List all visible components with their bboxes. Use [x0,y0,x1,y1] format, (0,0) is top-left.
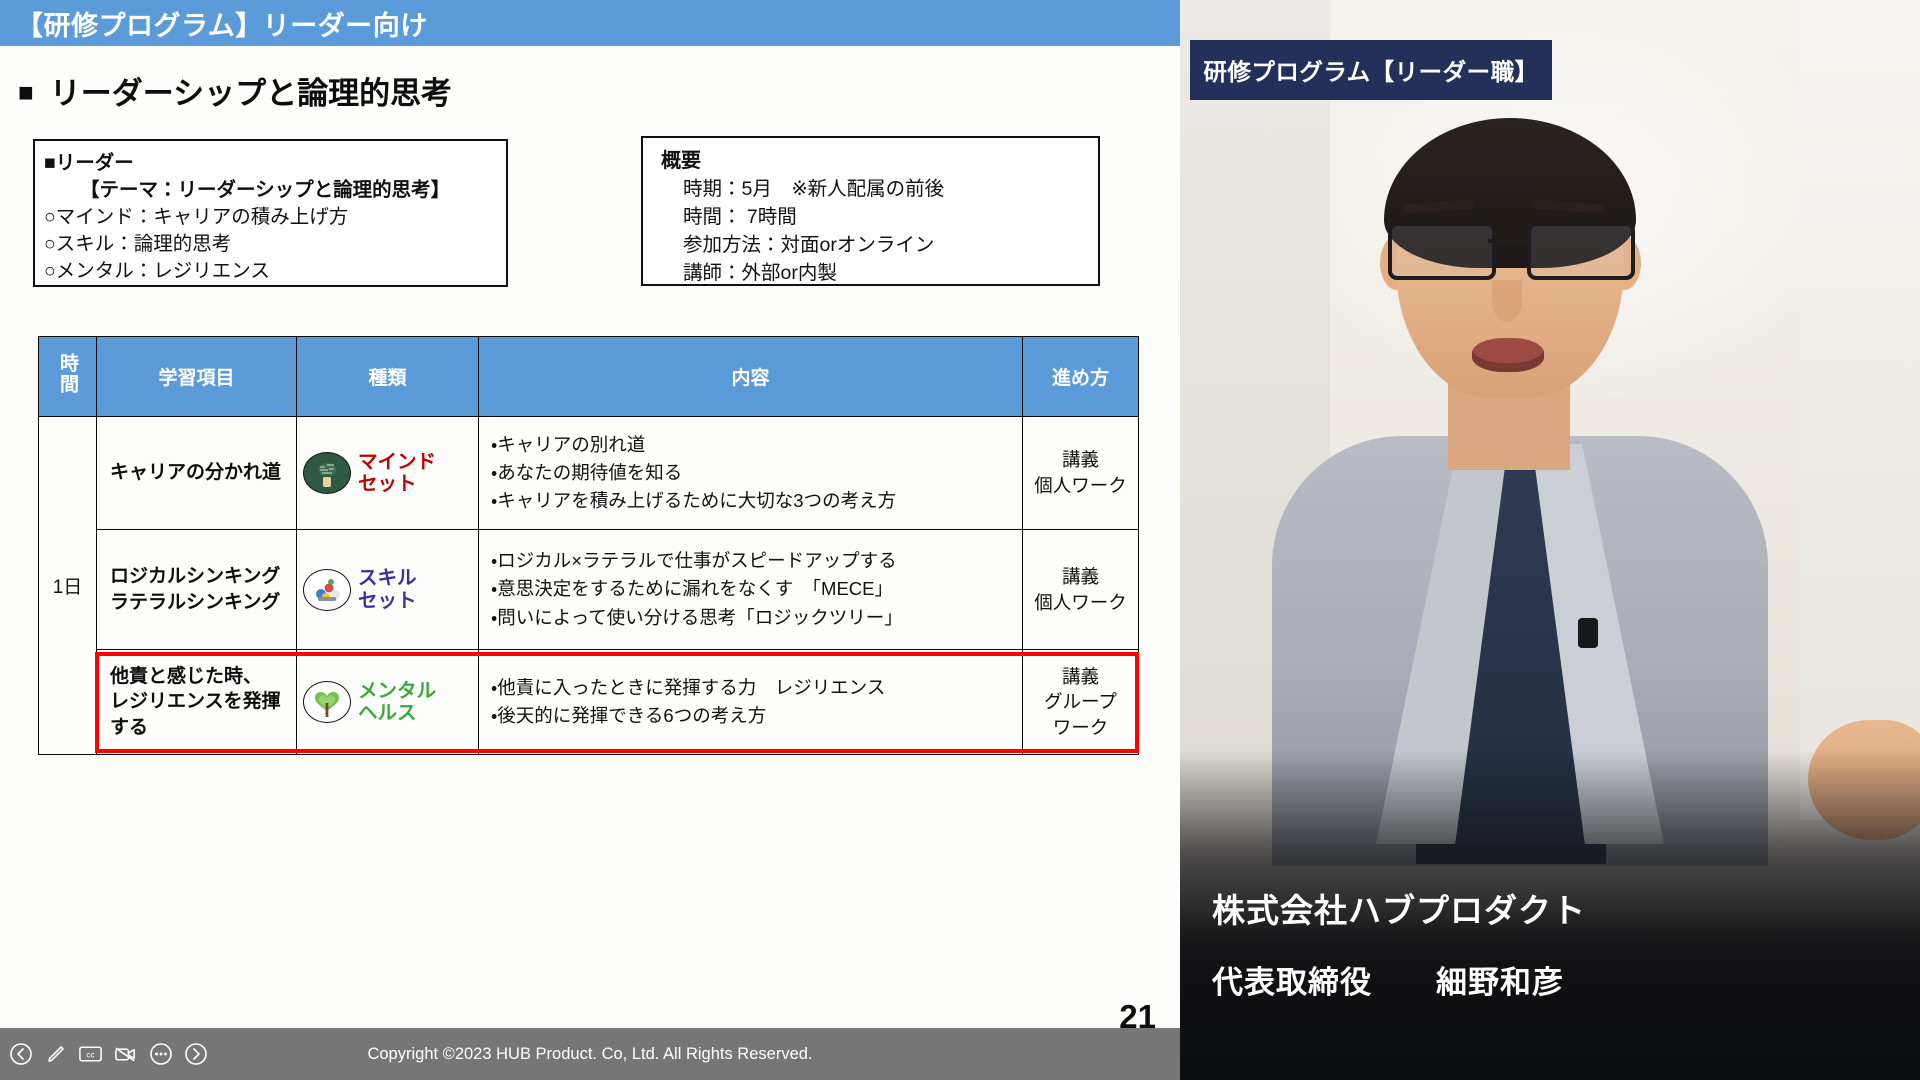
cell-how-row1: 講義 個人ワーク [1023,417,1139,530]
cell-kind-row1: マインド セット [297,417,479,530]
item-row3-line3: する [110,715,296,741]
item-row2-line2: ラテラルシンキング [110,590,296,616]
skillset-icon [303,569,351,611]
presenter-nose [1492,280,1522,322]
table-row: ロジカルシンキング ラテラルシンキング [39,530,1139,650]
leader-box-line-5: ○メンタル：レジリエンス [44,258,506,285]
content-row2-bullet-1: ・ロジカル×ラテラルで仕事がスピードアップする [491,547,1022,575]
slide-title: 【研修プログラム】リーダー向け [0,4,428,43]
presenter-mouth [1472,338,1544,372]
mindset-icon [303,452,351,494]
cell-how-row3: 講義 グループ ワーク [1023,650,1139,755]
content-row1-bullet-1: ・キャリアの別れ道 [491,431,1022,459]
table-row: 1日 キャリアの分かれ道 [39,417,1139,530]
cell-content-row3: ・他責に入ったときに発揮する力 レジリエンス ・後天的に発揮できる6つの考え方 [479,650,1023,755]
col-header-time-text: 時間 [58,353,77,395]
leader-box-line-2: 【テーマ：リーダーシップと論理的思考】 [44,177,506,204]
kind-label-row2-line1: スキル [358,567,417,589]
glasses-lens-left [1388,222,1496,280]
mentalhealth-icon [303,681,351,723]
overview-line-method: 参加方法：対面orオンライン [661,232,1098,260]
content-row1-bullet-2: ・あなたの期待値を知る [491,459,1022,487]
player-toolbar: cc Copyright ©2023 HUB Product. Co, Ltd.… [0,1028,1180,1080]
col-header-kind: 種類 [297,337,479,417]
content-row3-bullet-2: ・後天的に発揮できる6つの考え方 [491,702,1022,730]
kind-label-row3-line2: ヘルス [358,702,436,724]
overview-line-instructor: 講師：外部or内製 [661,260,1098,288]
cell-kind-row3: メンタル ヘルス [297,650,479,755]
presentation-screen: 【研修プログラム】リーダー向け ■リーダーシップと論理的思考 ■リーダー 【テー… [0,0,1920,1080]
how-row2-line2: 個人ワーク [1024,590,1137,616]
overview-box: 概要 時期：5月 ※新人配属の前後 時間： 7時間 参加方法：対面orオンライン… [641,136,1100,286]
how-row1-line1: 講義 [1024,447,1137,473]
cell-content-row2: ・ロジカル×ラテラルで仕事がスピードアップする ・意思決定をするために漏れをなく… [479,530,1023,650]
page-title: ■リーダーシップと論理的思考 [18,68,452,113]
presenter-glasses [1388,222,1635,276]
how-row3-line2: グループ [1024,689,1137,715]
presenter-video[interactable]: 研修プログラム【リーダー職】 株式会社ハブプロダクト 代表取締役 細野和彦 [1180,0,1920,1080]
table-row-highlighted: 他責と感じた時、 レジリエンスを発揮 する [39,650,1139,755]
how-row3-line3: ワーク [1024,715,1137,741]
kind-label-row2: スキル セット [358,567,417,612]
leader-box-line-1: ■リーダー [44,150,506,177]
leader-info-box: ■リーダー 【テーマ：リーダーシップと論理的思考】 ○マインド：キャリアの積み上… [33,139,508,287]
how-row3-line1: 講義 [1024,664,1137,690]
content-row2-bullet-3: ・問いによって使い分ける思考「ロジックツリー」 [491,604,1022,632]
kind-label-row2-line2: セット [358,590,417,612]
kind-label-row3-line1: メンタル [358,680,436,702]
content-row2-bullet-2: ・意思決定をするために漏れをなくす 「MECE」 [491,575,1022,603]
glasses-lens-right [1527,222,1635,280]
col-header-time: 時間 [39,337,97,417]
presenter-name: 代表取締役 細野和彦 [1212,957,1564,1002]
cell-day: 1日 [39,417,97,755]
item-row2-line1: ロジカルシンキング [110,564,296,590]
col-header-content: 内容 [479,337,1023,417]
leader-box-line-3: ○マインド：キャリアの積み上げ方 [44,204,506,231]
presenter-company: 株式会社ハブプロダクト [1212,884,1586,932]
slide-area: 【研修プログラム】リーダー向け ■リーダーシップと論理的思考 ■リーダー 【テー… [0,0,1180,1080]
lapel-microphone-icon [1578,618,1598,648]
leader-box-line-4: ○スキル：論理的思考 [44,231,506,258]
video-program-badge-text: 研修プログラム【リーダー職】 [1203,53,1538,87]
cell-how-row2: 講義 個人ワーク [1023,530,1139,650]
how-row2-line1: 講義 [1024,564,1137,590]
copyright-text: Copyright ©2023 HUB Product. Co, Ltd. Al… [0,1045,1180,1064]
how-row1-line2: 個人ワーク [1024,473,1137,499]
item-row3-line2: レジリエンスを発揮 [110,689,296,715]
kind-label-row1-line1: マインド [358,451,436,473]
cell-item-row2: ロジカルシンキング ラテラルシンキング [97,530,297,650]
kind-label-row3: メンタル ヘルス [358,680,436,725]
content-row1-bullet-3: ・キャリアを積み上げるために大切な3つの考え方 [491,487,1022,515]
curriculum-table: 時間 学習項目 種類 内容 進め方 1日 キャリアの分かれ道 [38,336,1139,755]
video-wall-right [1800,0,1920,820]
page-title-text: リーダーシップと論理的思考 [50,76,452,111]
cell-item-row1: キャリアの分かれ道 [97,417,297,530]
table-header-row: 時間 学習項目 種類 内容 進め方 [39,337,1139,417]
cell-item-row3: 他責と感じた時、 レジリエンスを発揮 する [97,650,297,755]
kind-label-row1-line2: セット [358,473,436,495]
cell-content-row1: ・キャリアの別れ道 ・あなたの期待値を知る ・キャリアを積み上げるために大切な3… [479,417,1023,530]
col-header-item: 学習項目 [97,337,297,417]
cell-kind-row2: スキル セット [297,530,479,650]
overview-line-period: 時期：5月 ※新人配属の前後 [661,176,1098,204]
content-row3-bullet-1: ・他責に入ったときに発揮する力 レジリエンス [491,674,1022,702]
bullet-square-icon: ■ [18,77,34,107]
col-header-how: 進め方 [1023,337,1139,417]
video-program-badge: 研修プログラム【リーダー職】 [1190,40,1552,100]
slide-title-bar: 【研修プログラム】リーダー向け [0,0,1180,46]
overview-box-title: 概要 [661,147,1098,176]
item-row3-line1: 他責と感じた時、 [110,664,296,690]
kind-label-row1: マインド セット [358,451,436,496]
overview-line-duration: 時間： 7時間 [661,204,1098,232]
